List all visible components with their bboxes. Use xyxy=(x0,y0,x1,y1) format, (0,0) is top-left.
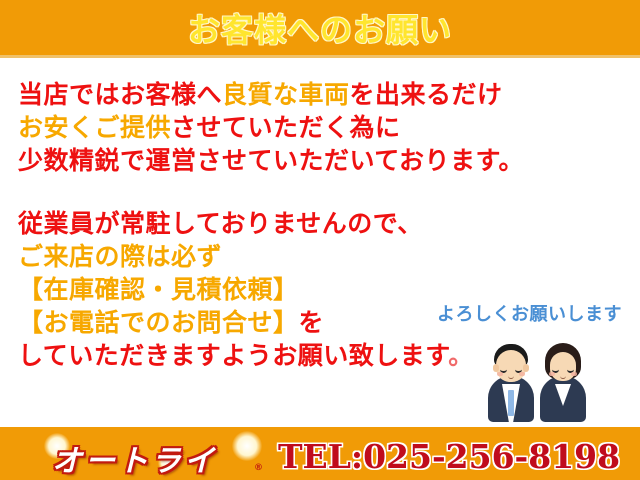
message-body: 当店ではお客様へ良質な車両を出来るだけ お安くご提供させていただく為に 少数精鋭… xyxy=(18,78,618,372)
necktie-icon xyxy=(508,390,514,416)
line-segment: 従業員が常駐しておりませんので、 xyxy=(18,209,423,238)
cheek-icon xyxy=(519,372,525,376)
line-segment: を出来るだけ xyxy=(350,80,503,109)
suit-icon xyxy=(488,376,534,422)
cheek-icon xyxy=(549,372,555,376)
ear-icon xyxy=(523,364,529,372)
suit-icon xyxy=(540,376,586,422)
message-line: 従業員が常駐しておりませんので、 xyxy=(18,207,618,240)
page-title: お客様へのお願い xyxy=(0,5,640,51)
blouse-icon xyxy=(555,384,571,406)
ear-icon xyxy=(493,364,499,372)
message-line: 当店ではお客様へ良質な車両を出来るだけ xyxy=(18,78,618,111)
cheek-icon xyxy=(571,372,577,376)
staff-man-figure xyxy=(485,330,537,422)
line-segment: 少数精鋭で運営させていただいております。 xyxy=(18,146,524,175)
message-line: 少数精鋭で運営させていただいております。 xyxy=(18,144,618,177)
line-segment-highlight: 【お電話でのお問合せ】 xyxy=(18,308,299,337)
line-segment: 当店ではお客様へ xyxy=(18,80,222,109)
line-segment: していただきますようお願い致します xyxy=(18,341,448,370)
sparkle-icon xyxy=(232,431,262,461)
bowing-staff-illustration xyxy=(485,330,595,422)
registered-mark-icon: ® xyxy=(254,463,263,473)
company-logo: オートライ ® xyxy=(46,437,261,475)
staff-woman-figure xyxy=(537,330,589,422)
phone-number: TEL:025-256-8198 xyxy=(278,437,620,476)
message-line: ご来店の際は必ず xyxy=(18,240,618,273)
line-segment-highlight: ご来店の際は必ず xyxy=(18,242,222,271)
line-segment-highlight: 【在庫確認・見積依頼】 xyxy=(18,275,299,304)
header-underline xyxy=(0,55,640,58)
cheek-icon xyxy=(497,372,503,376)
paragraph-spacer xyxy=(18,177,618,207)
logo-text: オートライ xyxy=(52,436,217,480)
line-segment-period: 。 xyxy=(448,341,474,370)
line-segment: させていただく為に xyxy=(171,113,401,142)
greeting-text: よろしくお願いします xyxy=(437,300,622,326)
line-segment-highlight: 良質な車両 xyxy=(222,80,350,109)
line-segment-highlight: お安くご提供 xyxy=(18,113,171,142)
paragraph-1: 当店ではお客様へ良質な車両を出来るだけ お安くご提供させていただく為に 少数精鋭… xyxy=(18,78,618,177)
message-line: お安くご提供させていただく為に xyxy=(18,111,618,144)
poster-root: お客様へのお願い 当店ではお客様へ良質な車両を出来るだけ お安くご提供させていた… xyxy=(0,0,640,480)
line-segment: を xyxy=(299,308,325,337)
